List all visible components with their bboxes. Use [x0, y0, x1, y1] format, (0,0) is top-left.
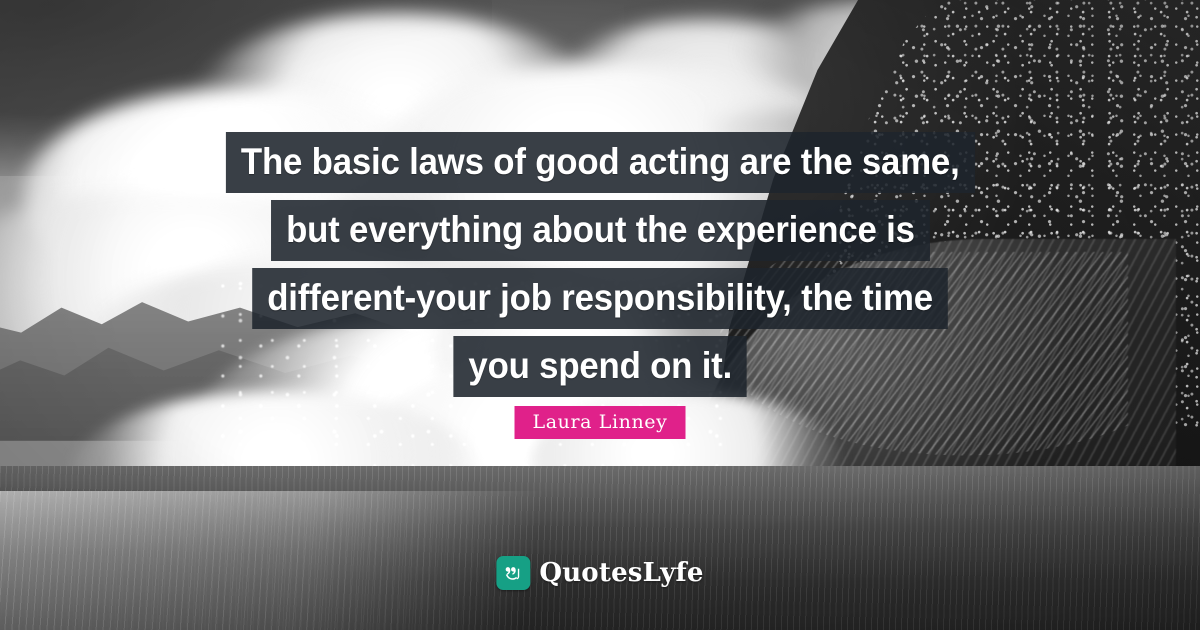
- brand-logo[interactable]: QuotesLyfe: [496, 556, 703, 590]
- quote-line: you spend on it.: [453, 336, 747, 397]
- brand-name: QuotesLyfe: [539, 558, 703, 588]
- quote-line: but everything about the experience is: [271, 200, 930, 261]
- quote-card: The basic laws of good acting are the sa…: [0, 0, 1200, 630]
- quote-line: The basic laws of good acting are the sa…: [226, 132, 975, 193]
- quote-line: different-your job responsibility, the t…: [252, 268, 948, 329]
- author-badge: Laura Linney: [515, 406, 686, 439]
- quote-text-block: The basic laws of good acting are the sa…: [0, 132, 1200, 397]
- quoteslyfe-smiley-quote-icon: [496, 556, 530, 590]
